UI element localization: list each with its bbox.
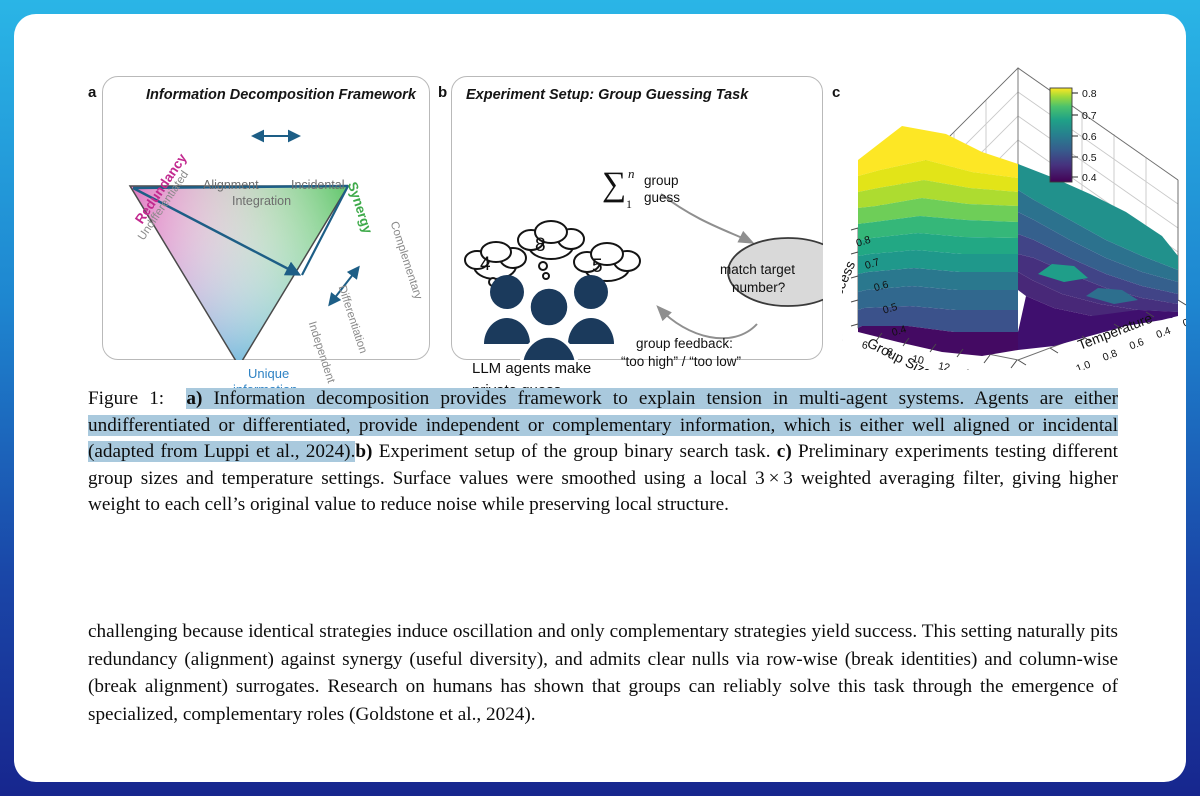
label-alignment: Alignment: [203, 178, 259, 192]
document-page: a Information Decomposition Framework: [14, 14, 1186, 782]
colorbar-tick-1: 0.7: [1082, 110, 1097, 122]
x-tick-14: 14: [963, 367, 977, 370]
y-tick-0.6: 0.6: [1128, 336, 1146, 352]
y-tick-1.0: 1.0: [1074, 359, 1092, 370]
colorbar-tick-4: 0.4: [1082, 172, 1097, 184]
panel-a-letter: a: [88, 84, 96, 101]
bubble-value-5: 5: [592, 256, 603, 278]
x-tick-4: 4: [842, 332, 844, 345]
colorbar-tick-2: 0.6: [1082, 131, 1097, 143]
caption-a-marker: a): [186, 388, 202, 409]
caption-b-text: Experiment setup of the group binary sea…: [372, 441, 770, 462]
label-unique: Unique: [248, 366, 289, 381]
label-integration: Integration: [232, 194, 291, 208]
sum-label-guess: guess: [644, 190, 680, 205]
panel-b-letter: b: [438, 84, 447, 101]
colorbar-tick-0: 0.8: [1082, 88, 1097, 100]
match-target-line1: match target: [720, 262, 795, 277]
feedback-arrow: [659, 308, 757, 338]
z-axis-title: Success: [842, 258, 858, 313]
thought-bubble-8: [518, 221, 584, 279]
feedback-label-line1: group feedback:: [636, 336, 733, 351]
bubble-value-4: 4: [480, 254, 491, 276]
summation-lower-limit: 1: [626, 197, 632, 212]
feedback-label-line2: “too high” / “too low”: [621, 354, 741, 369]
sum-label-group: group: [644, 173, 679, 188]
bubble-value-8: 8: [535, 235, 546, 257]
body-paragraph: challenging because identical strategies…: [88, 618, 1118, 728]
figure-1-graphic: a Information Decomposition Framework: [14, 60, 1186, 370]
y-tick-0.2: 0.2: [1181, 313, 1186, 329]
x-tick-12: 12: [937, 360, 951, 370]
caption-b-marker: b): [355, 441, 372, 462]
label-incidental: Incidental: [291, 178, 345, 192]
figure-caption: Figure 1: a) Information decomposition p…: [88, 386, 1118, 519]
experiment-setup-diagram: [451, 76, 823, 360]
match-target-line2: number?: [732, 280, 785, 295]
success-surface-3d-plot: 0.8 0.7 0.6 0.5 0.4 0.8 0.7 0.6 0.5 0.4: [842, 60, 1186, 370]
agents-caption-line1: LLM agents make: [472, 360, 591, 377]
caption-c-marker: c): [777, 441, 792, 462]
y-tick-0.4: 0.4: [1154, 325, 1172, 341]
caption-label: Figure 1:: [88, 388, 164, 409]
summation-upper-limit: n: [628, 166, 635, 182]
panel-c-letter: c: [832, 84, 840, 101]
llm-agents-icon: [484, 275, 614, 360]
summation-symbol: ∑: [602, 166, 626, 204]
colorbar-tick-3: 0.5: [1082, 152, 1097, 164]
y-tick-0.8: 0.8: [1101, 347, 1119, 363]
